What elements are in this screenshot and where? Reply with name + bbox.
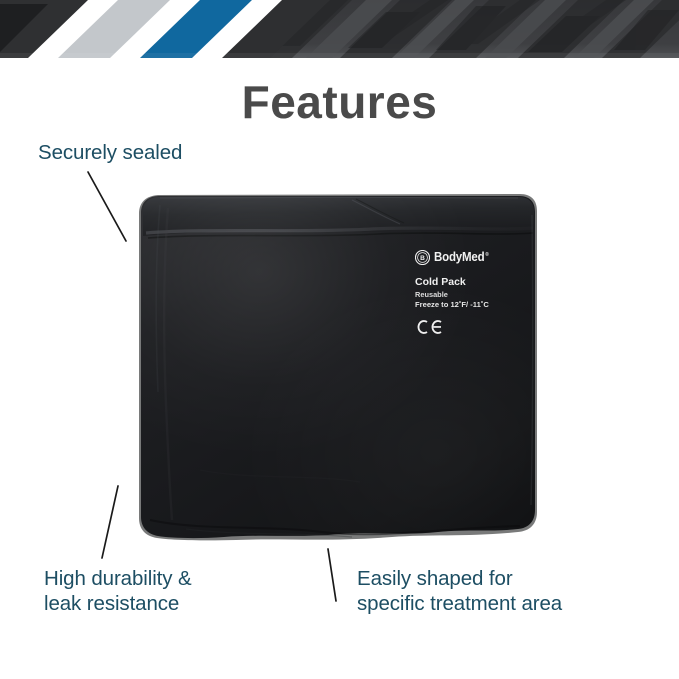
bodymed-circle-b-icon: B xyxy=(415,250,430,265)
callout-high-durability: High durability & leak resistance xyxy=(44,566,192,616)
page-title: Features xyxy=(0,78,679,126)
brand-trademark: ® xyxy=(485,252,488,258)
leader-line-securely-sealed xyxy=(88,172,126,241)
pack-body xyxy=(141,196,535,538)
leader-line-high-durability xyxy=(102,486,118,558)
svg-text:B: B xyxy=(420,255,425,262)
leader-line-easily-shaped xyxy=(328,549,336,601)
pack-seam xyxy=(146,228,533,233)
callout-securely-sealed: Securely sealed xyxy=(38,140,182,165)
pack-printed-label: B BodyMed® Cold Pack Reusable Freeze to … xyxy=(415,250,535,339)
product-temperature-text: Freeze to 12˚F/ -11˚C xyxy=(415,300,535,310)
pack-top-flap xyxy=(143,197,534,236)
product-reusable-text: Reusable xyxy=(415,290,535,300)
decorative-stripe-banner xyxy=(0,0,679,58)
cold-pack-graphic xyxy=(139,194,537,540)
brand-wordmark: BodyMed® xyxy=(434,251,489,264)
product-name: Cold Pack xyxy=(415,276,535,289)
callout-easily-shaped: Easily shaped for specific treatment are… xyxy=(357,566,562,616)
brand-name: BodyMed xyxy=(434,250,484,264)
ce-certification-icon xyxy=(415,320,445,334)
infographic-page: Features xyxy=(0,0,679,679)
brand-logo: B BodyMed® xyxy=(415,250,535,265)
banner-graphic xyxy=(0,0,679,58)
